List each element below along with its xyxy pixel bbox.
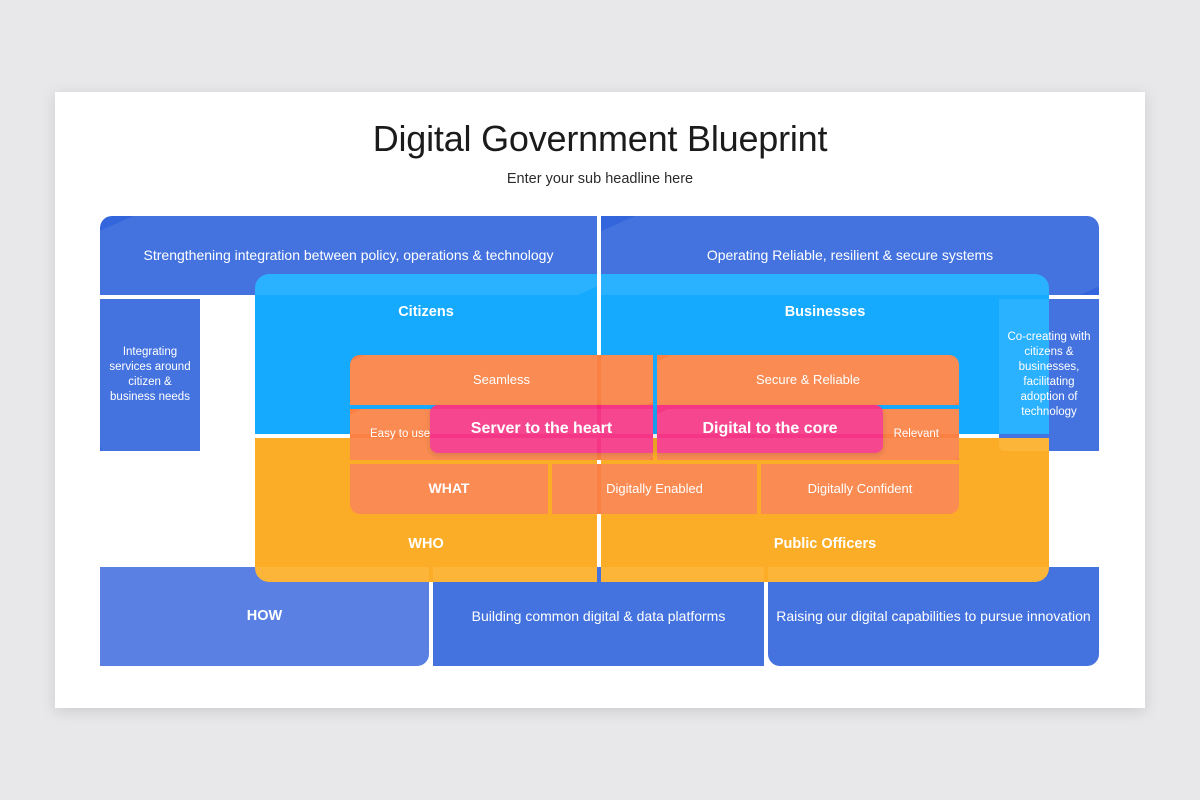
block-building-common-platforms-label: Building common digital & data platforms xyxy=(464,608,734,625)
block-strengthening-integration-label: Strengthening integration between policy… xyxy=(136,247,562,264)
block-operating-reliable-systems-label: Operating Reliable, resilient & secure s… xyxy=(699,247,1001,264)
block-seamless[interactable]: Seamless xyxy=(350,355,653,405)
block-how-label: HOW xyxy=(239,608,290,626)
block-server-to-the-heart[interactable]: Server to the heart xyxy=(430,405,653,453)
block-businesses-label: Businesses xyxy=(777,304,874,322)
block-digitally-confident[interactable]: Digitally Confident xyxy=(761,464,959,514)
slide-canvas: Digital Government Blueprint Enter your … xyxy=(0,0,1200,800)
block-co-creating-citizens-label: Co-creating with citizens & businesses, … xyxy=(999,330,1099,420)
block-integrating-services-label: Integrating services around citizen & bu… xyxy=(100,345,200,405)
block-what[interactable]: WHAT xyxy=(350,464,548,514)
block-seamless-label: Seamless xyxy=(465,372,538,388)
block-easy-to-use-label: Easy to use xyxy=(362,427,438,441)
block-server-to-the-heart-label: Server to the heart xyxy=(463,419,620,439)
block-what-label: WHAT xyxy=(421,480,478,497)
block-relevant-label: Relevant xyxy=(886,427,947,441)
block-raising-capabilities-label: Raising our digital capabilities to purs… xyxy=(768,608,1098,625)
block-digital-to-the-core[interactable]: Digital to the core xyxy=(657,405,883,453)
block-digitally-enabled-label: Digitally Enabled xyxy=(598,481,711,497)
block-public-officers-label: Public Officers xyxy=(766,536,884,554)
block-digitally-confident-label: Digitally Confident xyxy=(800,481,921,497)
page-subtitle: Enter your sub headline here xyxy=(55,171,1145,187)
block-citizens-label: Citizens xyxy=(390,304,462,322)
block-digitally-enabled[interactable]: Digitally Enabled xyxy=(552,464,757,514)
block-secure-reliable[interactable]: Secure & Reliable xyxy=(657,355,959,405)
block-digital-to-the-core-label: Digital to the core xyxy=(694,419,845,439)
block-secure-reliable-label: Secure & Reliable xyxy=(748,372,868,388)
blueprint-diagram: Strengthening integration between policy… xyxy=(100,216,1099,666)
block-integrating-services[interactable]: Integrating services around citizen & bu… xyxy=(100,299,200,451)
block-who-label: WHO xyxy=(400,536,451,554)
page-title: Digital Government Blueprint xyxy=(55,118,1145,160)
slide-card: Digital Government Blueprint Enter your … xyxy=(55,92,1145,708)
